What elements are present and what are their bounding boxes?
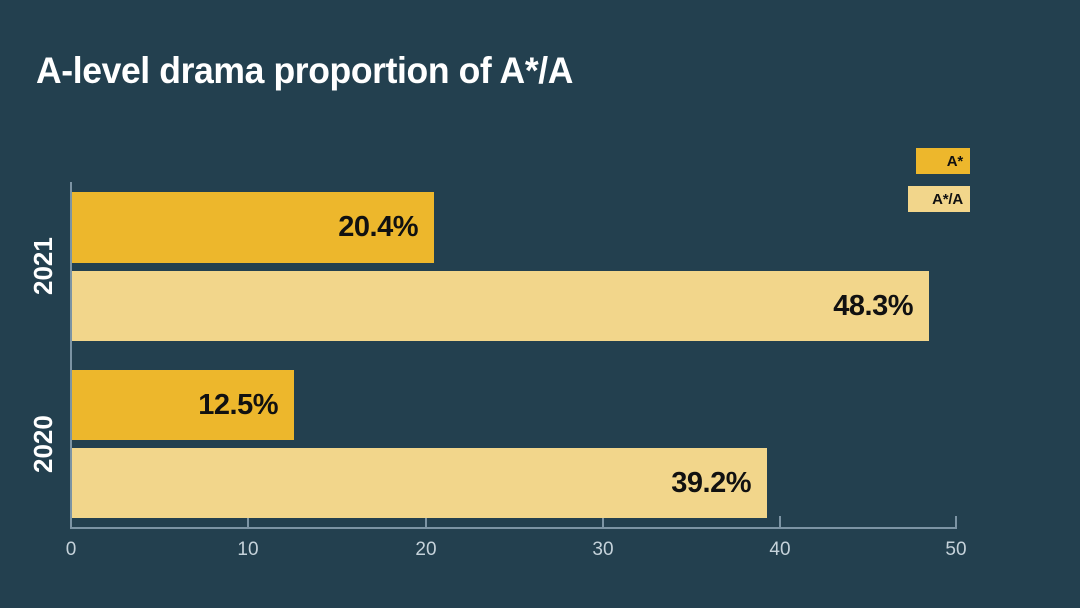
x-axis-tick-label: 40 [769,539,790,561]
bar-2021-astar-a[interactable]: 48.3% [72,271,929,341]
bar-value-label: 39.2% [671,467,751,500]
bar-value-label: 20.4% [338,211,418,244]
legend-item-astar[interactable]: A* [916,148,970,174]
x-axis-tick-label: 50 [945,539,966,561]
plot-area: 0 10 20 30 40 50 20.4% 48.3% 12.5% 39.2% [70,182,957,527]
x-axis-tick-label: 20 [415,539,436,561]
x-axis-tick [779,516,781,527]
bar-value-label: 12.5% [198,389,278,422]
x-axis-tick [955,516,957,527]
x-axis-tick-label: 10 [237,539,258,561]
x-axis-tick-label: 0 [66,539,77,561]
y-axis-category-2021: 2021 [28,192,59,340]
x-axis-tick-label: 30 [592,539,613,561]
legend-item-label: A* [947,153,963,170]
bar-value-label: 48.3% [833,290,913,323]
chart-container: A-level drama proportion of A*/A A* A*/A… [0,0,1080,608]
x-axis-line [70,527,957,529]
page-title: A-level drama proportion of A*/A [36,50,573,92]
bar-2020-astar[interactable]: 12.5% [72,370,294,440]
bar-2020-astar-a[interactable]: 39.2% [72,448,767,518]
bar-2021-astar[interactable]: 20.4% [72,192,434,263]
y-axis-category-2020: 2020 [28,370,59,518]
